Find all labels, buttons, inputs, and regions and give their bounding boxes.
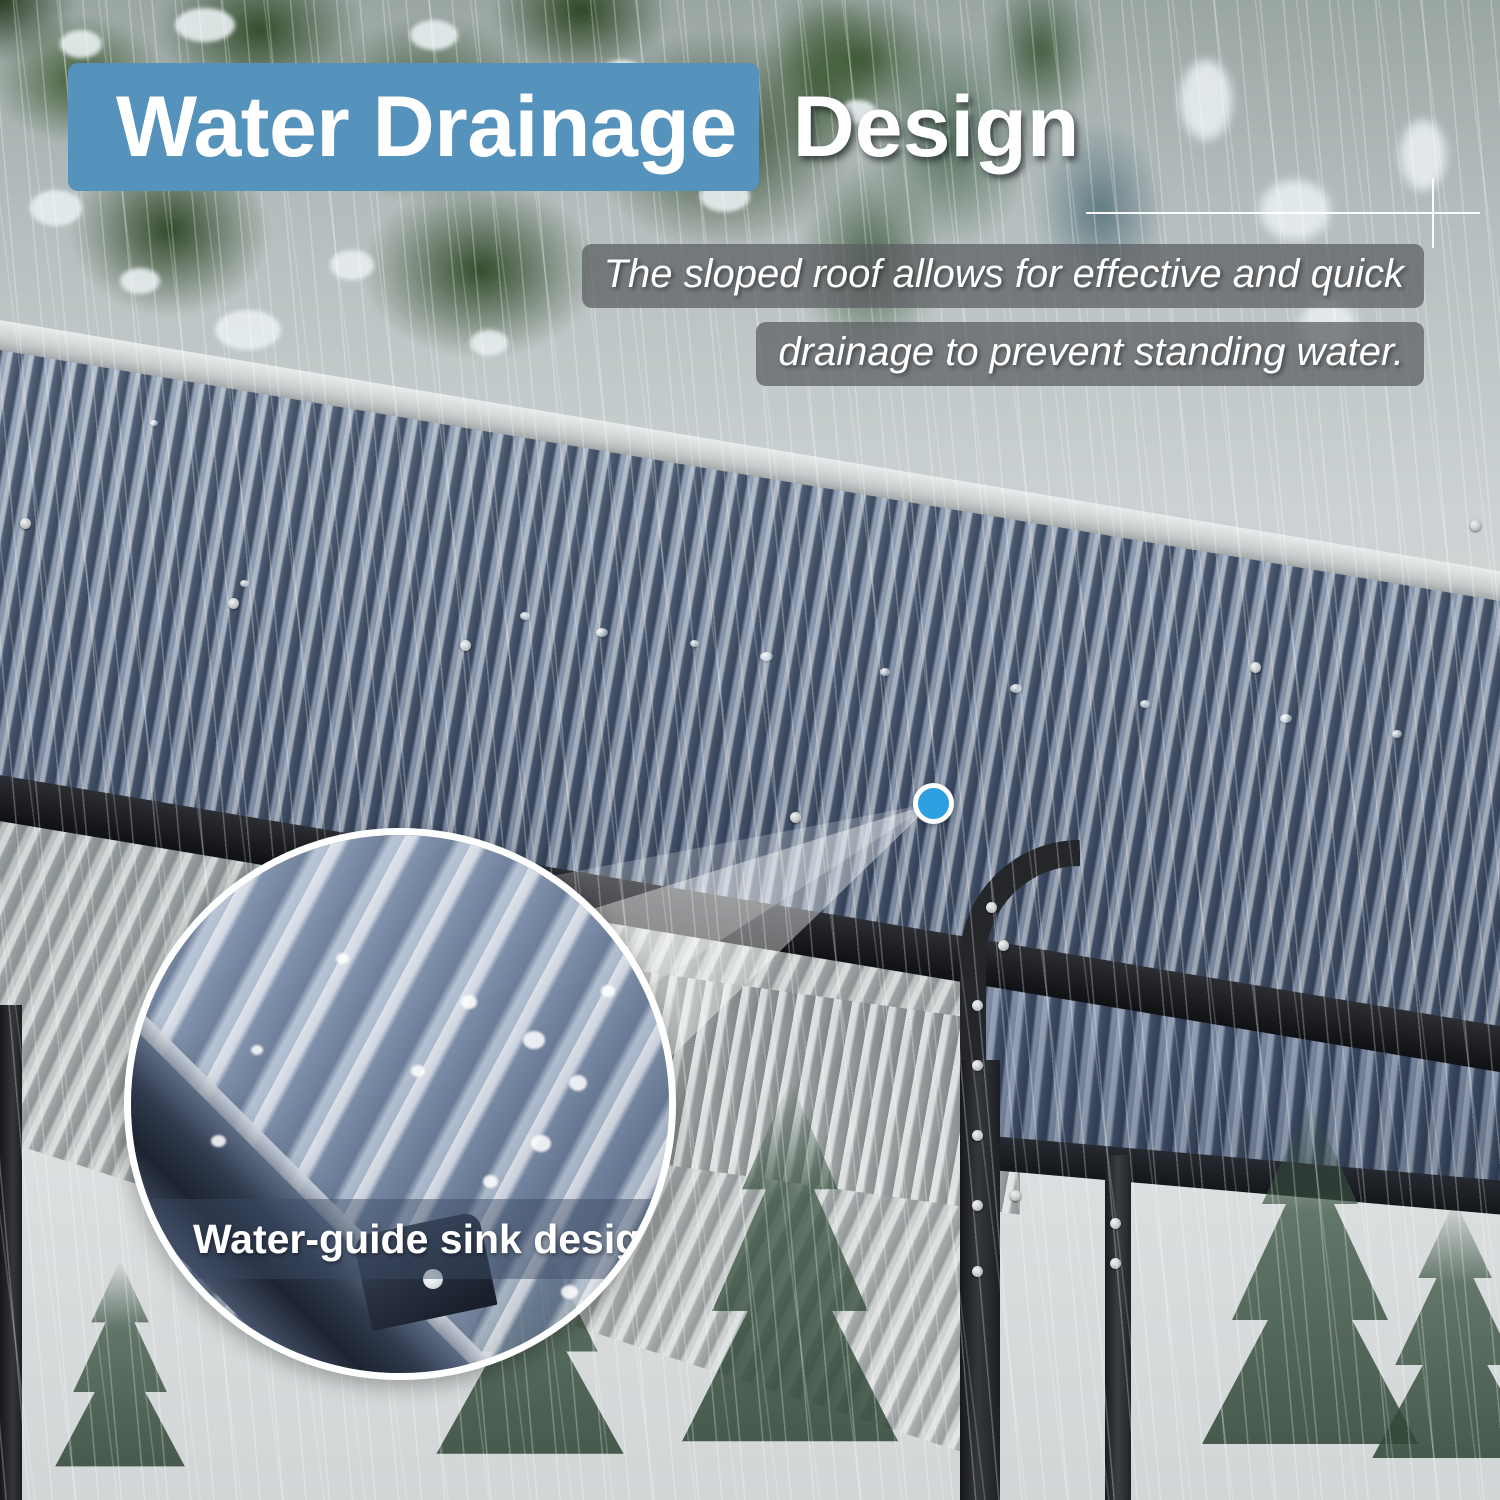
water-splash [531,1135,551,1152]
post-screw [1110,1258,1121,1269]
water-droplet [760,652,773,661]
subtitle-line-1: The sloped roof allows for effective and… [582,244,1424,308]
product-feature-image: Water Drainage Design The sloped roof al… [0,0,1500,1500]
roof-screw [998,940,1009,951]
water-droplet [596,628,608,637]
water-droplet [1010,684,1022,693]
water-droplet [1392,730,1402,738]
title-highlight-text: Water Drainage [116,84,737,170]
post-screw [1010,1190,1021,1201]
water-splash [251,1045,263,1055]
sky-fleck [175,8,235,42]
water-splash [483,1175,498,1188]
magnifier-caption-band: Water-guide sink design [131,1199,669,1279]
roof-screw [1470,520,1481,531]
water-splash [411,1065,425,1077]
roof-screw [460,640,471,651]
title-plain-text: Design [793,84,1080,170]
water-splash [601,985,615,997]
roof-screw [986,902,997,913]
subtitle-line-2: drainage to prevent standing water. [756,322,1424,386]
water-splash [336,953,349,964]
gazebo-post-inner [1105,1155,1131,1500]
water-droplet [690,640,699,647]
title-highlight-chip: Water Drainage [68,63,759,191]
post-screw [972,1200,983,1211]
post-screw [972,1130,983,1141]
sky-fleck [1400,120,1446,190]
post-screw [972,1000,983,1011]
callout-marker-dot[interactable] [913,783,954,824]
magnifier-caption-text: Water-guide sink design [193,1216,665,1263]
sky-fleck [30,190,82,226]
water-splash [569,1075,587,1091]
sky-fleck [1180,60,1232,140]
sky-fleck [1260,180,1330,240]
sky-fleck [60,30,102,58]
water-droplet [1140,700,1150,708]
post-screw [1110,1218,1121,1229]
roof-screw [790,812,801,823]
sky-fleck [410,20,458,50]
gazebo-post-left [0,1005,22,1500]
post-screw [972,1266,983,1277]
water-droplet [520,612,530,620]
roof-screw [228,598,239,609]
water-droplet [1280,714,1292,723]
crosshair-vertical-tick [1432,178,1434,248]
magnifier-callout: Water-guide sink design [124,828,676,1380]
water-splash [561,1285,578,1299]
water-droplet [880,668,890,676]
crosshair-horizontal-line [1086,212,1480,214]
water-splash [523,1031,545,1049]
water-droplet [150,420,158,426]
water-droplet [240,580,249,587]
roof-screw [1250,662,1261,673]
water-splash [461,995,477,1009]
roof-screw [20,518,31,529]
water-splash [211,1135,226,1147]
gazebo-post-right [960,1060,1000,1500]
subtitle-block: The sloped roof allows for effective and… [0,244,1424,386]
post-screw [972,1060,983,1071]
title-block: Water Drainage Design [68,63,1079,191]
